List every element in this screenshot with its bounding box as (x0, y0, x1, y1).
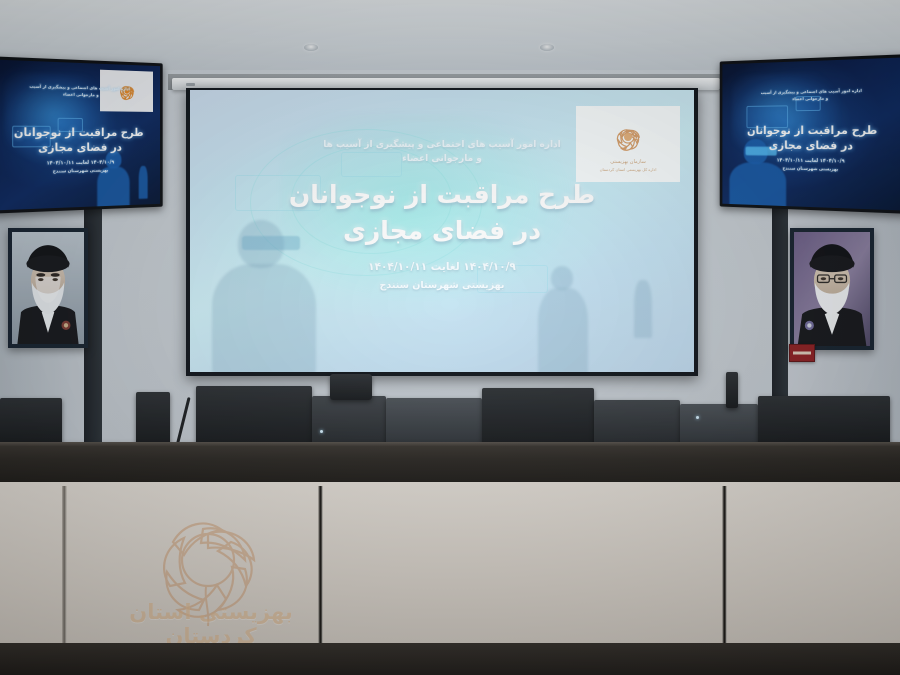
tv-left-date-range: ۱۴۰۴/۱۰/۹ لغایت ۱۴۰۴/۱۰/۱۱ (0, 159, 160, 168)
panel-divider (318, 486, 323, 646)
slide-subtitle-line2: و مارجوانی اعضاء (402, 152, 482, 166)
panel-divider (62, 486, 67, 646)
panel-divider (722, 486, 727, 646)
khomeini-portrait-icon (12, 232, 84, 344)
slide-title-line2: در فضای مجازی (343, 213, 541, 249)
dais-base-plinth (0, 643, 900, 675)
roller-tab-icon (186, 83, 195, 86)
khamenei-portrait (790, 228, 874, 350)
power-led-indicator (696, 416, 699, 419)
khomeini-portrait (8, 228, 88, 348)
podium-emblem-text: بهزیستی استان کردستان (96, 600, 326, 648)
tv-left-title-line1: طرح مراقبت از نوجوانان (0, 125, 160, 141)
wall-tv-left[interactable]: اداره امور آسیب های اجتماعی و پیشگیری از… (0, 56, 163, 213)
portrait-image (794, 232, 870, 346)
camera-unit (330, 374, 372, 400)
ceiling-light-icon (540, 44, 554, 51)
tv-left-title-line2: در فضای مجازی (0, 140, 160, 157)
monitor-center-right (482, 388, 594, 446)
tv-left-title-block: طرح مراقبت از نوجوانان در فضای مجازی ۱۴۰… (0, 125, 160, 176)
monitor-center (386, 398, 482, 446)
slide-date-range: ۱۴۰۴/۱۰/۹ لغایت ۱۴۰۴/۱۰/۱۱ (368, 261, 516, 273)
tv-right-title-line2: در فضای مجازی (722, 138, 900, 155)
laptop-center-left (312, 396, 386, 446)
portrait-image (12, 232, 84, 344)
tv-right-date-range: ۱۴۰۴/۱۰/۹ لغایت ۱۴۰۴/۱۰/۱۱ (722, 157, 900, 166)
power-led-indicator (320, 430, 323, 433)
wall-tv-right[interactable]: اداره امور آسیب های اجتماعی و پیشگیری از… (720, 54, 900, 214)
monitor-left (196, 386, 312, 446)
chair-back (136, 392, 170, 446)
slide-text-block: اداره امور آسیب های اجتماعی و پیشگیری از… (190, 138, 694, 291)
wall-alarm-sign (789, 344, 815, 362)
wall-tv-right-screen: اداره امور آسیب های اجتماعی و پیشگیری از… (722, 57, 900, 210)
ceiling-light-icon (304, 44, 318, 51)
tv-right-title-line1: طرح مراقبت از نوجوانان (722, 122, 900, 138)
device-far-left (0, 398, 62, 446)
slide-title-line1: طرح مراقبت از نوجوانان (289, 177, 595, 213)
conference-hall-photo: سازمان بهزیستی اداره کل بهزیستی استان کر… (0, 0, 900, 675)
dais-countertop-edge (0, 442, 900, 446)
monitor-far-right (758, 396, 890, 446)
person-body-silhouette (538, 288, 588, 372)
printer-unit (680, 404, 758, 446)
mic-stand-right[interactable] (726, 372, 738, 408)
wall-tv-left-screen: اداره امور آسیب های اجتماعی و پیشگیری از… (0, 60, 160, 211)
device-right (594, 400, 680, 446)
khamenei-portrait-icon (794, 232, 870, 346)
projection-screen: سازمان بهزیستی اداره کل بهزیستی استان کر… (190, 90, 694, 372)
slide-organization: بهزیستی شهرستان سنندج (380, 280, 505, 291)
tv-right-title-block: طرح مراقبت از نوجوانان در فضای مجازی ۱۴۰… (722, 122, 900, 173)
projection-screen-frame: سازمان بهزیستی اداره کل بهزیستی استان کر… (186, 88, 698, 376)
wall-sign-bar-icon (793, 352, 811, 355)
tv-left-organization: بهزیستی شهرستان سنندج (0, 167, 160, 175)
slide-subtitle-line1: اداره امور آسیب های اجتماعی و پیشگیری از… (323, 138, 560, 152)
dais-countertop (0, 442, 900, 484)
